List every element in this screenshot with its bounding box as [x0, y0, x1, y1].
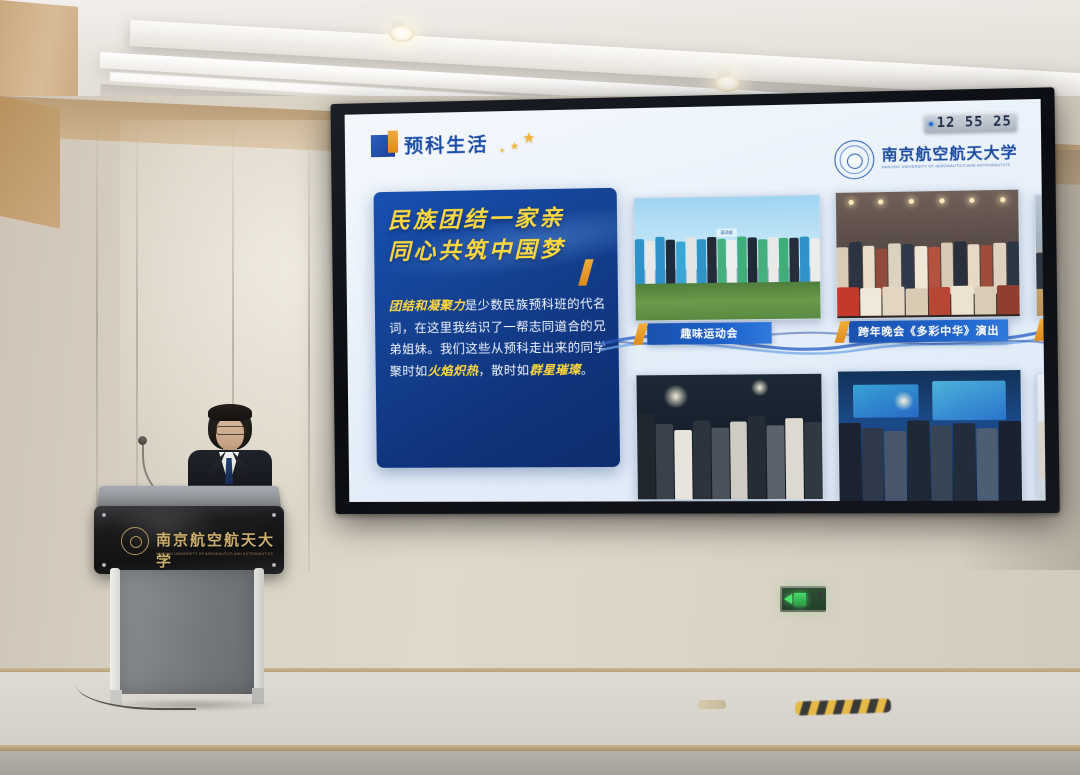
body-highlight-3: 群星璀璨: [529, 363, 581, 378]
screen-display-area: 预科生活 ★ ★ ★ 12 55 25 南京航空航天大学: [345, 99, 1046, 502]
podium-name-plate: 南京航空航天大学 NANJING UNIVERSITY OF AERONAUTI…: [94, 506, 284, 574]
photo-sports-day[interactable]: 运动会: [633, 194, 821, 321]
university-seal-icon: [121, 527, 149, 555]
slide-section-label: 预科生活: [404, 130, 489, 159]
photo-caption: 跨年晚会《多彩中华》演出: [849, 319, 1008, 342]
clock-indicator-icon: [929, 122, 933, 126]
photo-night-walk[interactable]: [635, 373, 824, 501]
body-highlight-1: 团结和凝聚力: [389, 298, 465, 313]
microphone-icon: [138, 436, 147, 445]
photo-new-year-party[interactable]: [837, 369, 1023, 502]
presentation-slide: 预科生活 ★ ★ ★ 12 55 25 南京航空航天大学: [345, 99, 1046, 502]
star-icon: ★: [510, 142, 519, 152]
photo-dumpling-activity[interactable]: [1037, 372, 1046, 500]
emergency-exit-sign: [780, 586, 826, 612]
exit-figure-icon: [794, 593, 806, 606]
slide-header: 预科生活 ★ ★ ★: [371, 128, 543, 159]
star-icon: ★: [499, 147, 505, 154]
photo-new-year-gala[interactable]: [835, 189, 1021, 320]
body-paragraph: 团结和凝聚力是少数民族预科班的代名词，在这里我结识了一帮志同道合的兄弟姐妹。我们…: [389, 293, 607, 383]
exit-arrow-icon: [784, 594, 792, 604]
wall-seam: [96, 110, 98, 540]
led-presentation-screen[interactable]: 预科生活 ★ ★ ★ 12 55 25 南京航空航天大学: [331, 87, 1060, 514]
wall-seam: [308, 122, 310, 572]
university-logo: 南京航空航天大学 NANJING UNIVERSITY OF AERONAUTI…: [834, 137, 1018, 180]
lecture-hall-photo: 预科生活 ★ ★ ★ 12 55 25 南京航空航天大学: [0, 0, 1080, 775]
ceiling-spotlight: [389, 26, 415, 42]
headline-calligraphy: 民族团结一家亲 同心共筑中国梦: [388, 202, 608, 269]
podium-frame-right: [254, 568, 264, 694]
photo-caption: 趣味运动会: [647, 322, 772, 345]
lower-floor: [0, 751, 1080, 775]
body-text-2: ，散时如: [478, 363, 529, 378]
podium-university-name-cn: 南京航空航天大学: [156, 529, 284, 571]
university-name-en: NANJING UNIVERSITY OF AERONAUTICS AND AS…: [882, 164, 1018, 171]
wall-wood-corner: [0, 96, 60, 229]
header-block-icon: [371, 134, 395, 157]
headline-line-1: 民族团结一家亲: [388, 202, 607, 237]
star-decoration: ★ ★ ★: [498, 131, 543, 154]
glasses-icon: [216, 426, 246, 435]
star-icon: ★: [522, 130, 536, 145]
body-highlight-2: 火焰炽热: [428, 364, 479, 379]
clock-time: 12 55 25: [937, 114, 1012, 131]
university-name-cn: 南京航空航天大学: [882, 145, 1018, 164]
university-seal-icon: [834, 140, 874, 180]
ceiling-spotlight: [714, 76, 740, 92]
podium-university-name-en: NANJING UNIVERSITY OF AERONAUTICS AND AS…: [156, 552, 273, 556]
body-text-3: 。: [581, 363, 594, 377]
headline-panel: 民族团结一家亲 同心共筑中国梦 团结和凝聚力是少数民族预科班的代名词，在这里我结…: [374, 188, 621, 468]
floor-patch: [698, 700, 726, 709]
podium-cable: [76, 674, 196, 710]
headline-line-2: 同心共筑中国梦: [388, 234, 607, 269]
digital-clock: 12 55 25: [924, 112, 1018, 134]
podium: 南京航空航天大学 NANJING UNIVERSITY OF AERONAUTI…: [94, 484, 284, 714]
